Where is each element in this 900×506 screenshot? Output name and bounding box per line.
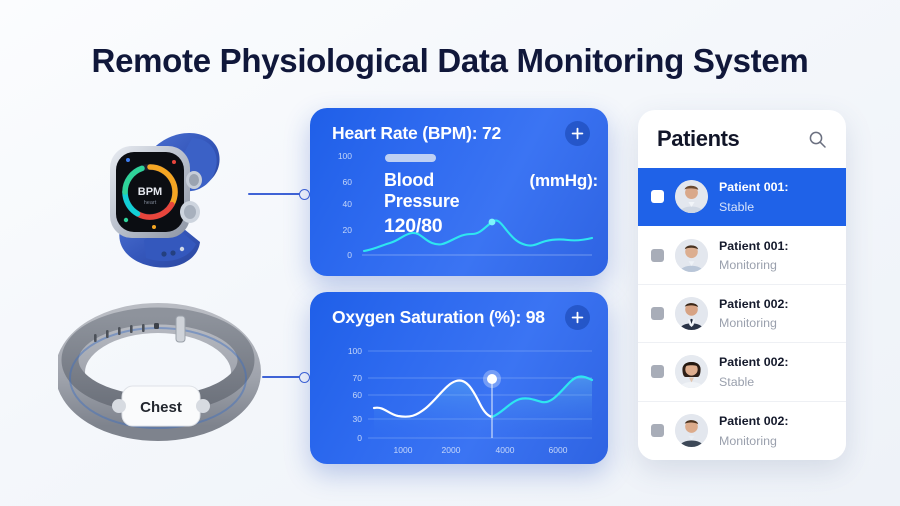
xtick-label: 6000	[549, 445, 568, 455]
card-header: Heart Rate (BPM): 72	[332, 121, 590, 146]
ytick-label: 60	[343, 177, 353, 187]
patient-text: Patient 002: Monitoring	[719, 294, 789, 333]
patient-checkbox[interactable]	[651, 249, 664, 262]
avatar	[675, 180, 708, 213]
avatar	[675, 355, 708, 388]
avatar	[675, 414, 708, 447]
xtick-label: 4000	[496, 445, 515, 455]
xtick-label: 2000	[442, 445, 461, 455]
patient-status: Stable	[719, 200, 754, 214]
oxygen-saturation-title: Oxygen Saturation (%): 98	[332, 307, 545, 328]
patient-list-item[interactable]: Patient 001: Monitoring	[638, 226, 846, 284]
ytick-label: 30	[353, 414, 363, 424]
patient-status: Monitoring	[719, 434, 777, 448]
patient-name: Patient 002:	[719, 355, 789, 369]
patient-text: Patient 001: Monitoring	[719, 236, 789, 275]
patient-text: Patient 002: Stable	[719, 352, 789, 391]
patient-checkbox[interactable]	[651, 190, 664, 203]
metric-placeholder-bar	[385, 154, 436, 162]
blood-pressure-label: Blood Pressure	[384, 170, 496, 212]
blood-pressure-unit: (mmHg):	[530, 171, 598, 191]
patient-checkbox[interactable]	[651, 424, 664, 437]
search-icon[interactable]	[808, 130, 827, 149]
xtick-label: 1000	[394, 445, 413, 455]
heart-rate-card[interactable]: Heart Rate (BPM): 72 100 60 40 20 0	[310, 108, 608, 276]
ytick-label: 0	[347, 250, 352, 260]
connector-line	[248, 193, 300, 195]
patient-status: Stable	[719, 375, 754, 389]
ytick-label: 100	[348, 346, 362, 356]
patient-list-item[interactable]: Patient 002: Stable	[638, 343, 846, 401]
ytick-label: 70	[353, 373, 363, 383]
add-metric-button[interactable]	[565, 305, 590, 330]
patient-list-item[interactable]: Patient 002: Monitoring	[638, 285, 846, 343]
plus-icon	[571, 127, 584, 140]
patient-name: Patient 001:	[719, 180, 789, 194]
ytick-label: 100	[338, 151, 352, 161]
connector-endpoint	[299, 372, 310, 383]
patient-name: Patient 002:	[719, 414, 789, 428]
ytick-label: 20	[343, 225, 353, 235]
patient-status: Monitoring	[719, 258, 777, 272]
patients-title: Patients	[657, 126, 739, 152]
smartwatch-illustration: BPM heart	[72, 108, 257, 293]
connector-strap-to-card	[262, 371, 310, 383]
connector-endpoint	[299, 189, 310, 200]
plus-icon	[571, 311, 584, 324]
oxygen-saturation-card[interactable]: Oxygen Saturation (%): 98	[310, 292, 608, 464]
app-canvas: Remote Physiological Data Monitoring Sys…	[0, 0, 900, 506]
patient-status: Monitoring	[719, 316, 777, 330]
card-header: Oxygen Saturation (%): 98	[332, 305, 590, 330]
patients-panel: Patients Patient	[638, 110, 846, 460]
patient-name: Patient 001:	[719, 239, 789, 253]
add-metric-button[interactable]	[565, 121, 590, 146]
patient-name: Patient 002:	[719, 297, 789, 311]
blood-pressure-value: 120/80	[384, 215, 598, 238]
oxygen-marker[interactable]	[487, 374, 497, 384]
patient-checkbox[interactable]	[651, 365, 664, 378]
patients-list: Patient 001: Stable Patient 001:	[638, 168, 846, 460]
page-title: Remote Physiological Data Monitoring Sys…	[0, 42, 900, 80]
svg-text:heart: heart	[144, 200, 157, 206]
avatar	[675, 239, 708, 272]
ytick-label: 40	[343, 199, 353, 209]
ytick-label: 0	[357, 433, 362, 443]
connector-watch-to-card	[248, 188, 310, 200]
patient-text: Patient 001: Stable	[719, 177, 789, 216]
chest-strap-illustration: Chest	[58, 300, 263, 445]
oxygen-saturation-chart: 100 70 60 30 0 1000 2000 4000 6000	[330, 336, 598, 456]
blood-pressure-overlay: Blood Pressure (mmHg): 120/80	[384, 170, 598, 238]
heart-rate-title: Heart Rate (BPM): 72	[332, 123, 501, 144]
patient-list-item[interactable]: Patient 002: Monitoring	[638, 402, 846, 460]
chest-strap-device: Chest	[58, 300, 263, 445]
patient-list-item[interactable]: Patient 001: Stable	[638, 168, 846, 226]
ytick-label: 60	[353, 390, 363, 400]
chest-module-label: Chest	[140, 399, 182, 416]
patient-checkbox[interactable]	[651, 307, 664, 320]
patient-text: Patient 002: Monitoring	[719, 411, 789, 450]
patients-panel-header: Patients	[638, 110, 846, 168]
smartwatch-device: BPM heart	[72, 108, 257, 293]
avatar	[675, 297, 708, 330]
connector-line	[262, 376, 300, 378]
watch-bpm-label: BPM	[138, 186, 162, 198]
